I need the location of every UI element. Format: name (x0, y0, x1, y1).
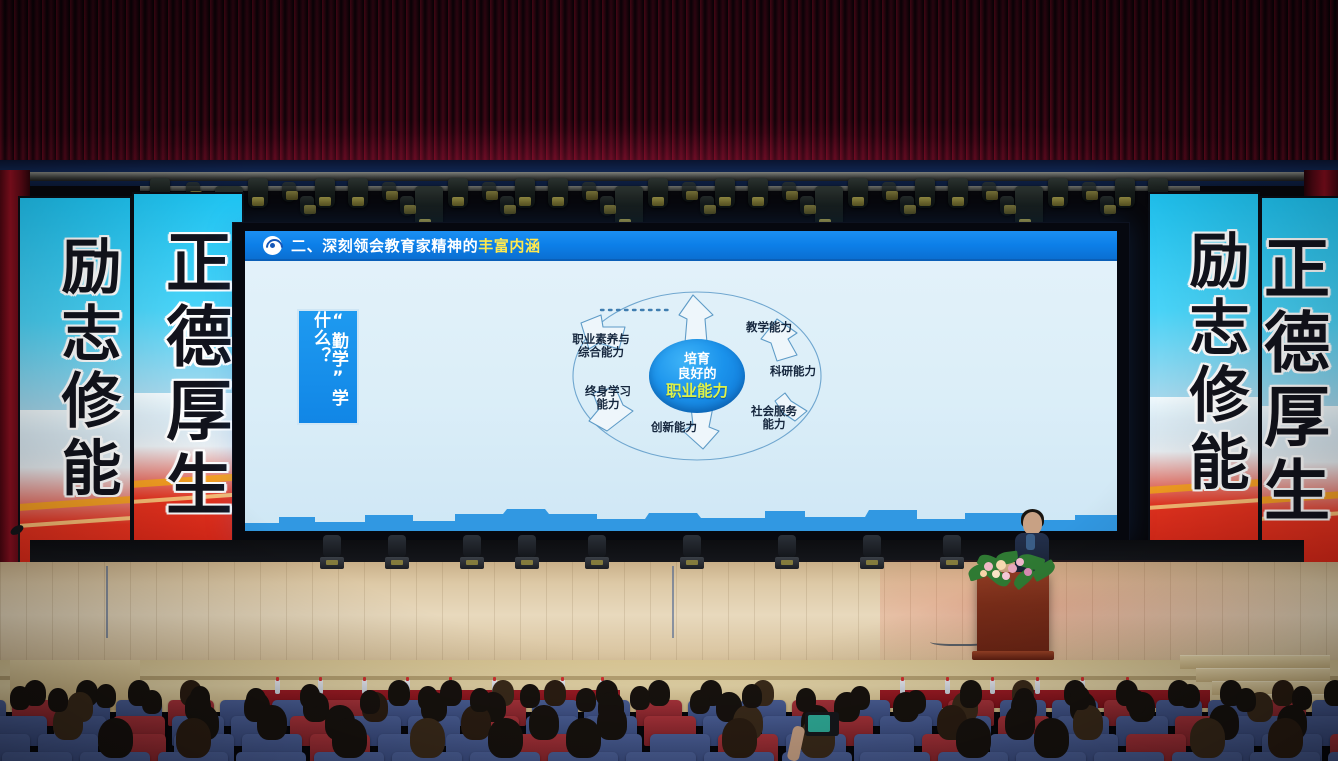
stage-light (248, 178, 268, 208)
led-screen: 二、深刻领会教育家精神的丰富内涵 “勤学”学什么？ (232, 222, 1130, 542)
audience-head (544, 680, 566, 706)
audience-head (850, 686, 870, 710)
diagram-node-lifelong: 终身学习 能力 (571, 385, 645, 411)
audience-head (1180, 684, 1200, 708)
slide-title-highlight: 丰富内涵 (478, 237, 540, 255)
audience-head (388, 680, 410, 706)
stage-light (582, 182, 596, 202)
diagram-node-teaching: 教学能力 (733, 321, 805, 334)
auditorium-seat (626, 752, 696, 761)
moving-head-light (515, 535, 539, 569)
audience-head (1324, 680, 1338, 706)
light-base (680, 557, 704, 569)
audience-head (960, 684, 980, 708)
stage-light (548, 178, 568, 208)
audience-head (246, 688, 266, 712)
flower-bloom (980, 570, 987, 577)
audience-head (1070, 686, 1090, 710)
audience-head (906, 690, 926, 714)
audience-head (418, 686, 438, 710)
water-bottle (990, 680, 995, 694)
stage-light (482, 182, 496, 202)
stage-light (948, 178, 968, 208)
stage-light (900, 196, 914, 216)
light-head (943, 535, 961, 557)
audience-head (470, 688, 490, 712)
auditorium-seat (236, 752, 306, 761)
flower-bloom (992, 570, 1000, 578)
stage-light (915, 178, 935, 208)
slide-title: 二、深刻领会教育家精神的丰富内涵 (291, 235, 541, 256)
stage-light (400, 196, 414, 216)
light-head (863, 535, 881, 557)
moving-head-light (385, 535, 409, 569)
banner-left-outer-text: 励志修能 (20, 235, 130, 504)
audience-head (48, 688, 68, 712)
moving-head-light (585, 535, 609, 569)
banner-right-outer-text: 正德厚生 (1262, 234, 1338, 530)
audience-head (956, 718, 991, 758)
stage-light (515, 178, 535, 208)
audience-head (529, 705, 559, 740)
stage-light (748, 178, 768, 208)
audience-head (410, 718, 445, 758)
audience-head (722, 718, 757, 758)
auditorium-seat (2, 752, 72, 761)
audience-head (190, 686, 210, 710)
audience-head (1034, 718, 1069, 758)
auditorium-seat (1094, 752, 1164, 761)
audience-head (630, 686, 650, 710)
banner-left-inner-text: 正德厚生 (134, 228, 242, 524)
audience-head (597, 705, 627, 740)
stage-light (882, 182, 896, 202)
light-head (323, 535, 341, 557)
audience-head (576, 688, 596, 712)
stage-light (282, 182, 296, 202)
flower-bloom (996, 560, 1006, 570)
stage-light (982, 182, 996, 202)
center-line-1: 培育 (684, 353, 710, 367)
light-head (588, 535, 606, 557)
stage-light (682, 182, 696, 202)
audience-head (98, 718, 133, 758)
audience-head (566, 718, 601, 758)
stage-light (315, 178, 335, 208)
moving-head-light (680, 535, 704, 569)
audience-head (1014, 688, 1034, 712)
floor-seam (106, 566, 108, 638)
water-bottle (1035, 680, 1040, 694)
audience-head (742, 684, 762, 708)
stage-light (600, 196, 614, 216)
key-question-text: “勤学”学什么？ (310, 311, 346, 423)
stage-light (715, 178, 735, 208)
key-question-box: “勤学”学什么？ (297, 309, 359, 425)
audience-head (1236, 688, 1256, 712)
stage-light (1100, 196, 1114, 216)
light-base (940, 557, 964, 569)
stage-light (700, 196, 714, 216)
light-base (585, 557, 609, 569)
audience-head (520, 684, 540, 708)
diagram-node-service: 社会服务 能力 (737, 405, 811, 431)
water-bottle (275, 680, 280, 694)
banner-left-inner: 正德厚生 (132, 192, 244, 578)
stage-light (1115, 178, 1135, 208)
flower-bloom (1016, 558, 1024, 566)
audience-head (360, 690, 380, 714)
audience-head (1292, 686, 1312, 710)
stage-light (648, 178, 668, 208)
slide-title-prefix: 二、深刻领会教育家精神的 (291, 237, 478, 255)
light-head (518, 535, 536, 557)
stage-light (300, 196, 314, 216)
banner-right-inner: 励志修能 (1148, 192, 1260, 586)
audience-head (10, 686, 30, 710)
moving-head-light (940, 535, 964, 569)
audience-head (648, 680, 670, 706)
audience-head (96, 684, 116, 708)
light-head (388, 535, 406, 557)
audience-head (1272, 680, 1294, 706)
moving-head-light (320, 535, 344, 569)
light-base (860, 557, 884, 569)
stage-light (782, 182, 796, 202)
speaker-head (1023, 512, 1042, 535)
banner-right-inner-text: 励志修能 (1150, 229, 1258, 498)
audience-head (176, 718, 211, 758)
light-base (515, 557, 539, 569)
diagram-node-literacy: 职业素养与 综合能力 (555, 333, 647, 359)
light-base (320, 557, 344, 569)
stage-light (1000, 196, 1014, 216)
moving-head-light (860, 535, 884, 569)
banner-ribbon-thin (18, 516, 132, 529)
city-skyline-graphic (245, 505, 1117, 531)
stage-light (848, 178, 868, 208)
stage-light (800, 196, 814, 216)
diagram-center: 培育 良好的 职业能力 (649, 339, 745, 413)
diagram-node-research: 科研能力 (757, 365, 829, 378)
audience-head (332, 718, 367, 758)
floor-seam (672, 566, 674, 638)
diagram-node-innovation: 创新能力 (637, 421, 711, 434)
stage-light (382, 182, 396, 202)
light-head (683, 535, 701, 557)
presentation-slide: 二、深刻领会教育家精神的丰富内涵 “勤学”学什么？ (245, 231, 1117, 531)
audience-head (690, 690, 710, 714)
audience-head (1126, 690, 1146, 714)
stage-light (348, 178, 368, 208)
stage-light (448, 178, 468, 208)
audience-head (488, 718, 523, 758)
banner-ribbon-thin (1148, 498, 1260, 511)
light-base (460, 557, 484, 569)
moving-head-light (460, 535, 484, 569)
light-head (778, 535, 796, 557)
light-head (463, 535, 481, 557)
flower-arrangement (966, 552, 1058, 590)
stair-step (1180, 655, 1330, 669)
handheld-camera (805, 712, 839, 736)
stage-light (500, 196, 514, 216)
light-base (775, 557, 799, 569)
center-line-2: 良好的 (677, 368, 716, 382)
spiral-logo-icon (263, 236, 282, 255)
slide-title-bar: 二、深刻领会教育家精神的丰富内涵 (245, 231, 1117, 261)
capability-diagram: 培育 良好的 职业能力 教学能力 科研能力 社会服务 能力 创新能力 终身学习 … (545, 281, 845, 471)
audience-head (142, 690, 162, 714)
center-line-3: 职业能力 (666, 383, 728, 400)
water-bottle (945, 680, 950, 694)
wall-trim (0, 676, 1338, 680)
stage-light (1082, 182, 1096, 202)
light-base (385, 557, 409, 569)
flower-bloom (1024, 568, 1032, 576)
lighting-truss-bar (0, 172, 1338, 181)
speaker-shirt (1026, 534, 1035, 550)
moving-head-light (775, 535, 799, 569)
audience-head (300, 684, 320, 708)
audience-head (796, 688, 816, 712)
audience-head (1073, 705, 1103, 740)
stage-light (1048, 178, 1068, 208)
auditorium-seat (860, 752, 930, 761)
camera-screen (808, 715, 830, 732)
stair-step (1196, 668, 1330, 682)
audience-head (1268, 718, 1303, 758)
flower-bloom (1008, 564, 1017, 573)
audience-head (1190, 718, 1225, 758)
auditorium-seat (1328, 752, 1338, 761)
auditorium-scene: 励志修能 正德厚生 励志修能 正德厚生 二、深刻领会教育家精神的丰富内涵 “ (0, 0, 1338, 761)
flower-bloom (1002, 572, 1010, 580)
